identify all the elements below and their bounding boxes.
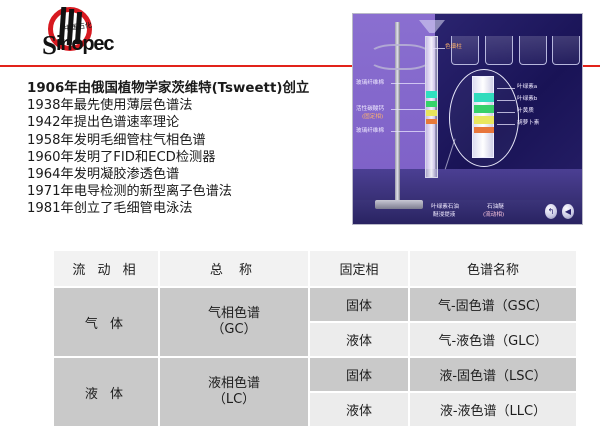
cell-mobile-phase-gas: 气 体 xyxy=(54,288,158,356)
label-band-b: 叶绿素b xyxy=(517,96,537,103)
history-line: 1971年电导检测的新型离子色谱法 xyxy=(27,183,347,200)
slide-root: { "brand": { "logo_name": "sinopec-logo"… xyxy=(0,0,600,448)
history-line: 1960年发明了FID和ECD检测器 xyxy=(27,149,347,166)
clamp-icon xyxy=(369,44,431,70)
prev-button[interactable]: ↰ xyxy=(545,204,557,219)
cell-mobile-phase-liquid: 液 体 xyxy=(54,358,158,426)
label-solution: 叶绿素石油 xyxy=(431,204,459,211)
table-header-general-name: 总 称 xyxy=(160,251,308,286)
cell-name-glc: 气-液色谱（GLC） xyxy=(410,323,576,356)
label-column: 色谱柱 xyxy=(445,44,462,51)
beaker-icon xyxy=(519,36,547,65)
history-line: 1981年创立了毛细管电泳法 xyxy=(27,200,347,217)
leader-line xyxy=(391,131,425,132)
general-name-text: 气相色谱 xyxy=(160,306,308,322)
cell-general-name-lc: 液相色谱 （LC） xyxy=(160,358,308,426)
chromatography-column xyxy=(425,36,438,178)
magnified-band-a xyxy=(474,93,494,102)
history-line: 1958年发明毛细管柱气相色谱 xyxy=(27,132,347,149)
column-band-b xyxy=(426,101,437,107)
table-row: 液 体 液相色谱 （LC） 固体 液-固色谱（LSC） xyxy=(54,358,576,391)
leader-line xyxy=(497,112,515,113)
table-header-mobile-phase: 流 动 相 xyxy=(54,251,158,286)
cell-stationary-solid-liquid: 固体 xyxy=(310,358,408,391)
general-name-text: 液相色谱 xyxy=(160,376,308,392)
chromatography-classification-table: 流 动 相 总 称 固定相 色谱名称 气 体 气相色谱 （GC） 固体 气-固色… xyxy=(52,249,578,428)
table-header-row: 流 动 相 总 称 固定相 色谱名称 xyxy=(54,251,576,286)
table-header-chromatography-name: 色谱名称 xyxy=(410,251,576,286)
illustration-left-panel xyxy=(353,14,435,169)
leader-line xyxy=(391,109,425,110)
stand-base-icon xyxy=(375,200,423,209)
column-band-c xyxy=(426,110,437,116)
label-eluent: 石油醚 xyxy=(487,204,504,211)
history-list: 1906年由俄国植物学家茨维特(Tsweett)创立 1938年最先使用薄层色谱… xyxy=(27,80,347,218)
cell-name-llc: 液-液色谱（LLC） xyxy=(410,393,576,426)
beaker-icon xyxy=(485,36,513,65)
cell-stationary-liquid-gas: 液体 xyxy=(310,323,408,356)
leader-line xyxy=(497,124,515,125)
label-stationary-phase: 活性碳酸钙 xyxy=(356,106,384,113)
cell-name-gsc: 气-固色谱（GSC） xyxy=(410,288,576,321)
magnified-band-b xyxy=(474,105,494,113)
magnified-band-c xyxy=(474,116,494,124)
label-band-d: 胡萝卜素 xyxy=(517,120,539,127)
leader-line xyxy=(497,88,515,89)
cell-stationary-solid-gas: 固体 xyxy=(310,288,408,321)
label-eluent-note: (流动相) xyxy=(483,212,504,219)
general-name-abbr: （LC） xyxy=(160,392,308,408)
magnified-band-d xyxy=(474,127,494,133)
history-line: 1942年提出色谱速率理论 xyxy=(27,114,347,131)
label-glass-wool-top: 玻璃纤维棉 xyxy=(356,80,384,87)
cell-name-lsc: 液-固色谱（LSC） xyxy=(410,358,576,391)
general-name-abbr: （GC） xyxy=(160,322,308,338)
history-line: 1906年由俄国植物学家茨维特(Tsweett)创立 xyxy=(27,80,347,97)
next-button[interactable]: ◀ xyxy=(562,204,574,219)
label-solution-2: 醚浸提液 xyxy=(433,212,455,219)
cell-stationary-liquid-liquid: 液体 xyxy=(310,393,408,426)
label-band-c: 叶黄质 xyxy=(517,108,534,115)
history-line: 1938年最先使用薄层色谱法 xyxy=(27,97,347,114)
logo-wordmark: inopec xyxy=(56,33,113,56)
sinopec-logo: 中国石化 S inopec xyxy=(30,4,122,60)
column-band-a xyxy=(426,91,437,98)
column-band-d xyxy=(426,119,437,124)
label-stationary-phase-note: (固定相) xyxy=(362,114,383,121)
label-band-a: 叶绿素a xyxy=(517,84,537,91)
chromatography-illustration: 色谱柱 玻璃纤维棉 活性碳酸钙 (固定相) 玻璃纤维棉 叶绿素a 叶绿素b 叶黄… xyxy=(352,13,583,225)
beaker-icon xyxy=(552,36,580,65)
label-glass-wool-bottom: 玻璃纤维棉 xyxy=(356,128,384,135)
table-header-stationary-phase: 固定相 xyxy=(310,251,408,286)
logo-initial: S xyxy=(42,30,56,61)
leader-line xyxy=(497,100,515,101)
leader-line xyxy=(391,83,425,84)
leader-line xyxy=(433,48,445,49)
table-row: 气 体 气相色谱 （GC） 固体 气-固色谱（GSC） xyxy=(54,288,576,321)
cell-general-name-gc: 气相色谱 （GC） xyxy=(160,288,308,356)
history-line: 1964年发明凝胶渗透色谱 xyxy=(27,166,347,183)
